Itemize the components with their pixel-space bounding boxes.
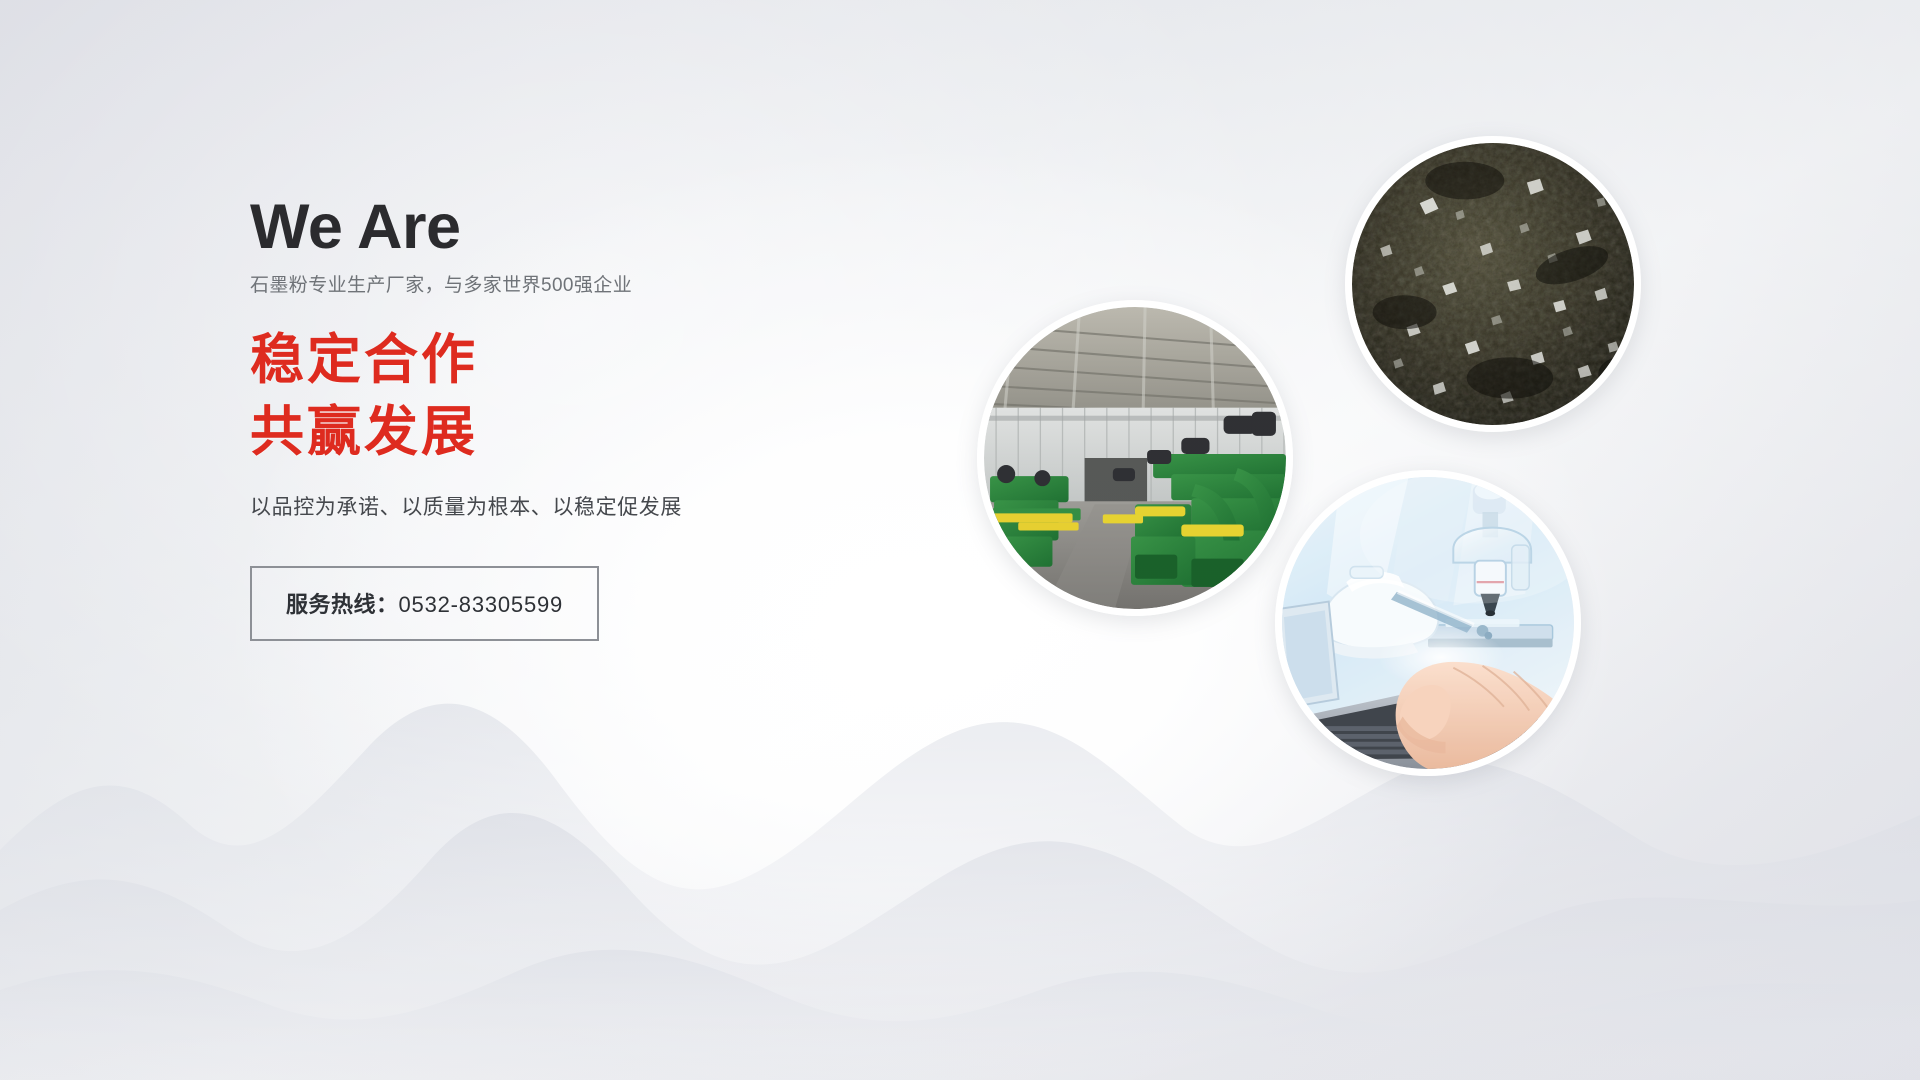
heading-we-are: We Are [250, 195, 1010, 259]
hotline-text: 服务热线：0532-83305599 [286, 592, 563, 617]
graphite-flake-photo [1345, 136, 1641, 432]
hotline-number: 0532-83305599 [399, 592, 564, 617]
service-hotline-box[interactable]: 服务热线：0532-83305599 [250, 566, 599, 641]
laboratory-testing-image [1282, 477, 1574, 769]
slogan-text: 以品控为承诺、以质量为根本、以稳定促发展 [250, 491, 1010, 521]
banner-copy-block: We Are 石墨粉专业生产厂家，与多家世界500强企业 稳定合作 共赢发展 以… [250, 195, 1010, 641]
mountain-silhouette-decoration [0, 610, 1920, 1080]
subheading-company-intro: 石墨粉专业生产厂家，与多家世界500强企业 [250, 273, 1010, 300]
factory-workshop-photo [977, 300, 1293, 616]
laboratory-testing-photo [1275, 470, 1581, 776]
hero-banner: We Are 石墨粉专业生产厂家，与多家世界500强企业 稳定合作 共赢发展 以… [0, 0, 1920, 1080]
hotline-label: 服务热线： [286, 592, 399, 617]
factory-workshop-image [984, 307, 1286, 609]
headline-line-2: 共赢发展 [250, 396, 1010, 468]
graphite-flake-image [1352, 143, 1634, 425]
headline-line-1: 稳定合作 [250, 324, 1010, 396]
